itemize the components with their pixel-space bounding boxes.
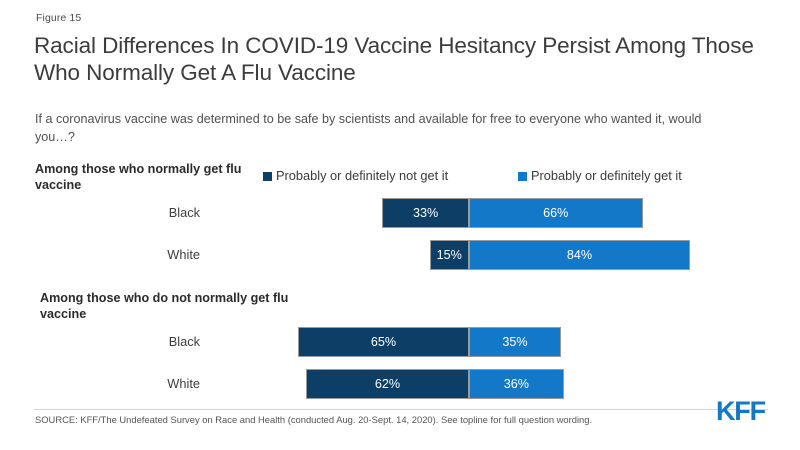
bar-value-label: 35% [502, 336, 527, 349]
bar-segment-get-it: 84% [469, 240, 690, 270]
bar-row: Black65%35% [0, 327, 800, 357]
bar-value-label: 62% [375, 378, 400, 391]
bar-segment-not-get-it: 65% [298, 327, 469, 357]
page-title: Racial Differences In COVID-19 Vaccine H… [34, 32, 774, 86]
bar-segment-get-it: 66% [469, 198, 643, 228]
group-header-not-normally-get-flu-vaccine: Among those who do not normally get flu … [40, 291, 305, 322]
bar-segment-get-it: 36% [469, 369, 564, 399]
bar-track: 15%84% [0, 240, 800, 270]
legend-label: Probably or definitely get it [531, 169, 682, 183]
figure-number: Figure 15 [36, 12, 81, 24]
legend-swatch-icon [263, 172, 272, 181]
group-header-normally-get-flu-vaccine: Among those who normally get flu vaccine [35, 162, 250, 193]
chart-legend: Probably or definitely not get it Probab… [263, 169, 763, 185]
bar-segment-get-it: 35% [469, 327, 561, 357]
bar-track: 33%66% [0, 198, 800, 228]
legend-swatch-icon [518, 172, 527, 181]
kff-logo: KFF [716, 398, 765, 425]
bar-segment-not-get-it: 15% [430, 240, 469, 270]
legend-item-not-get-it: Probably or definitely not get it [263, 169, 448, 183]
bar-value-label: 36% [504, 378, 529, 391]
figure-subtitle: If a coronavirus vaccine was determined … [35, 110, 735, 146]
bar-value-label: 15% [437, 249, 462, 262]
bar-value-label: 33% [413, 207, 438, 220]
bar-track: 62%36% [0, 369, 800, 399]
footer-divider [34, 409, 768, 410]
legend-label: Probably or definitely not get it [276, 169, 448, 183]
bar-row: White62%36% [0, 369, 800, 399]
bar-value-label: 66% [543, 207, 568, 220]
bar-track: 65%35% [0, 327, 800, 357]
bar-row: Black33%66% [0, 198, 800, 228]
kff-figure-slide: Figure 15 Racial Differences In COVID-19… [0, 0, 800, 450]
bar-value-label: 65% [371, 336, 396, 349]
legend-item-get-it: Probably or definitely get it [518, 169, 682, 183]
bar-segment-not-get-it: 33% [382, 198, 469, 228]
source-note: SOURCE: KFF/The Undefeated Survey on Rac… [35, 414, 695, 426]
bar-segment-not-get-it: 62% [306, 369, 469, 399]
bar-row: White15%84% [0, 240, 800, 270]
bar-value-label: 84% [567, 249, 592, 262]
